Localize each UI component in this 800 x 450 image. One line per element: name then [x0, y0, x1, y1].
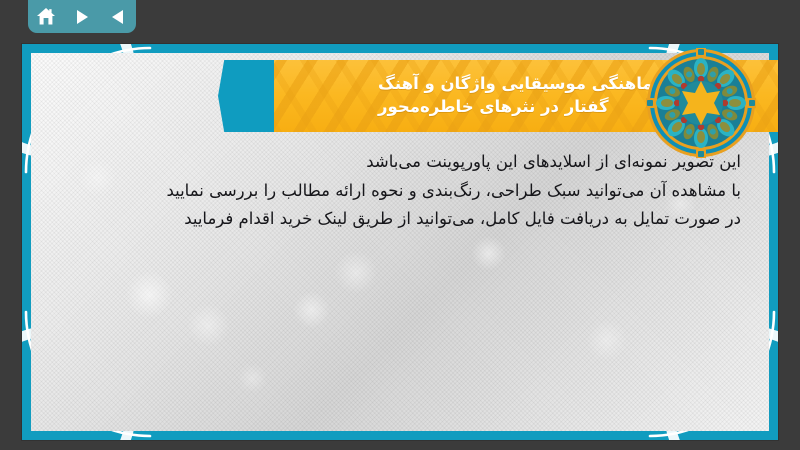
page-title-line-2: گفتار در نثرهای خاطره‌محور	[378, 96, 609, 119]
triangle-left-icon	[109, 8, 127, 26]
home-icon	[36, 7, 56, 26]
slide-viewer: این تصویر نمونه‌ای از اسلایدهای این پاور…	[0, 0, 800, 450]
slide-body-text: این تصویر نمونه‌ای از اسلایدهای این پاور…	[59, 149, 741, 235]
persian-medallion-ornament	[646, 48, 756, 158]
home-button[interactable]	[33, 5, 59, 29]
body-line-1: این تصویر نمونه‌ای از اسلایدهای این پاور…	[59, 149, 741, 176]
forward-button[interactable]	[69, 5, 95, 29]
back-button[interactable]	[105, 5, 131, 29]
body-line-3: در صورت تمایل به دریافت فایل کامل، می‌تو…	[59, 206, 741, 233]
banner-arrow-tab	[218, 60, 280, 132]
navigation-bar	[28, 0, 136, 33]
triangle-right-icon	[73, 8, 91, 26]
body-line-2: با مشاهده آن می‌توانید سبک طراحی، رنگ‌بن…	[59, 178, 741, 205]
slide-frame: این تصویر نمونه‌ای از اسلایدهای این پاور…	[22, 44, 778, 440]
